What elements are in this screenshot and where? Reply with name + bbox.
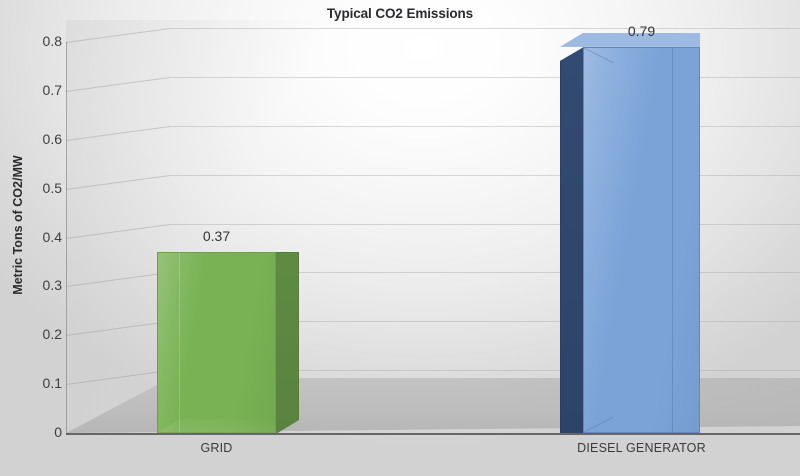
bar-front-face bbox=[583, 47, 700, 433]
bar-diesel-generator[interactable] bbox=[583, 47, 700, 433]
bar-side-face bbox=[276, 252, 299, 434]
bar-perspective-edge bbox=[672, 47, 673, 433]
bar-perspective-edge bbox=[179, 252, 180, 433]
plot-area: 0.370.79 0.80.70.60.50.40.30.20.10 GRIDD… bbox=[0, 0, 800, 476]
gridline-depth-segment bbox=[66, 224, 170, 239]
gridline-flat-segment bbox=[170, 224, 800, 225]
gridline-flat-segment bbox=[170, 126, 800, 127]
bar-value-label: 0.37 bbox=[157, 228, 276, 244]
chart-title: Typical CO2 Emissions bbox=[0, 6, 800, 21]
y-axis-tick-label: 0.8 bbox=[10, 33, 62, 49]
co2-emissions-chart: 0.370.79 0.80.70.60.50.40.30.20.10 GRIDD… bbox=[0, 0, 800, 476]
y-axis-tick-label: 0.1 bbox=[10, 375, 62, 391]
gridline-depth-segment bbox=[66, 272, 170, 287]
x-axis-line bbox=[66, 433, 800, 435]
y-axis-tick-label: 0 bbox=[10, 424, 62, 440]
y-axis-line bbox=[66, 42, 67, 434]
gridline-depth-segment bbox=[66, 370, 170, 385]
bar-value-label: 0.79 bbox=[583, 23, 700, 39]
gridline-flat-segment bbox=[170, 77, 800, 78]
y-axis-tick-labels: 0.80.70.60.50.40.30.20.10 bbox=[0, 0, 62, 476]
gridline-flat-segment bbox=[170, 28, 800, 29]
bar-grid[interactable] bbox=[157, 252, 276, 433]
gridline-depth-segment bbox=[66, 126, 170, 141]
gridline-depth-segment bbox=[66, 175, 170, 190]
y-axis-tick-label: 0.7 bbox=[10, 82, 62, 98]
x-axis-category-label: GRID bbox=[97, 441, 336, 455]
bar-front-face bbox=[157, 252, 276, 433]
gridline-depth-segment bbox=[66, 28, 170, 43]
y-axis-title: Metric Tons of CO2/MW bbox=[11, 115, 25, 335]
gridline-flat-segment bbox=[170, 175, 800, 176]
gridline-depth-segment bbox=[66, 77, 170, 92]
bar-side-face bbox=[560, 47, 584, 433]
x-axis-category-label: DIESEL GENERATOR bbox=[523, 441, 760, 455]
gridline-depth-segment bbox=[66, 321, 170, 336]
